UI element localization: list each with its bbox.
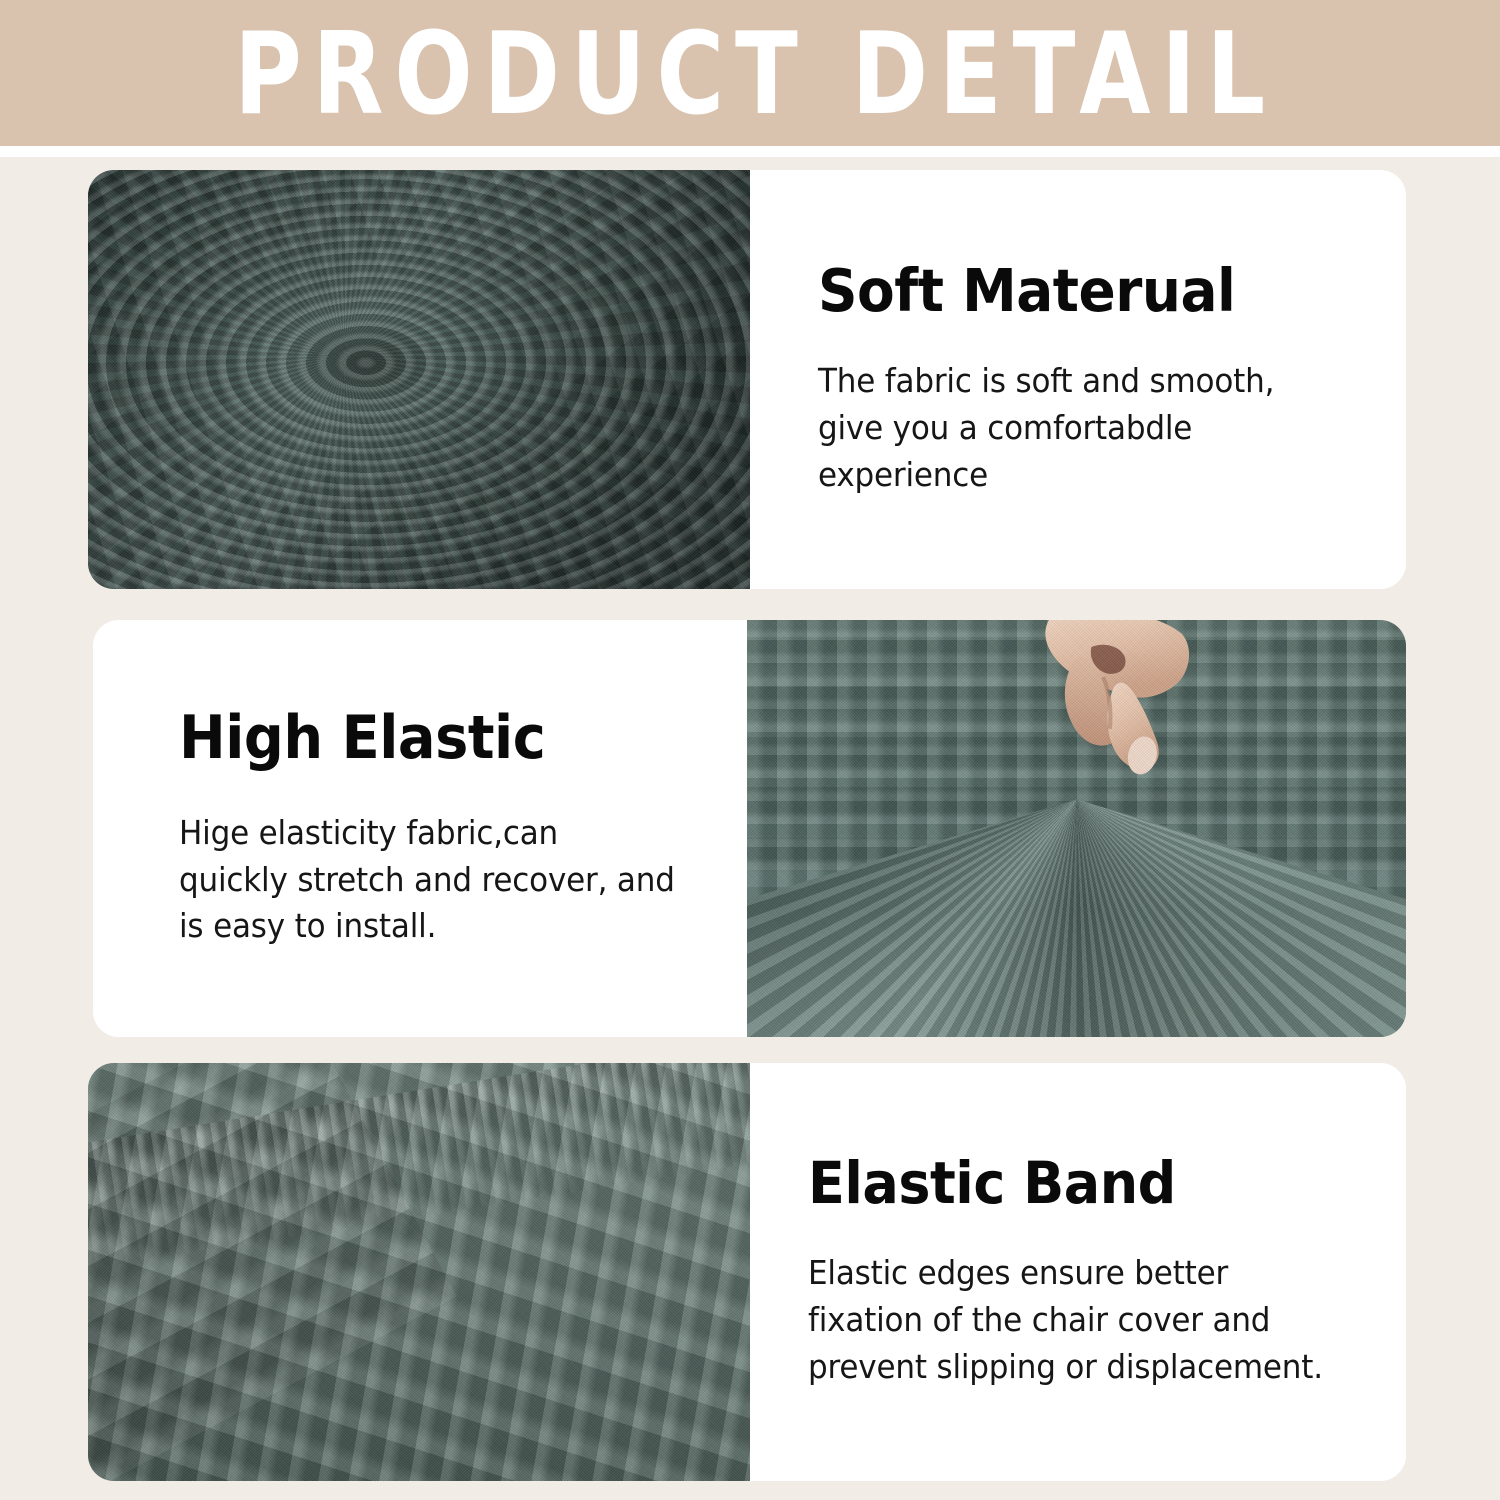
feature-description-high-elastic: Hige elasticity fabric,can quickly stret… bbox=[179, 810, 675, 951]
fabric-photo-swirl bbox=[88, 170, 750, 589]
feature-card-high-elastic: High Elastic Hige elasticity fabric,can … bbox=[93, 620, 1406, 1037]
header-divider bbox=[0, 146, 1500, 157]
hand-pinching-icon bbox=[978, 620, 1242, 803]
jacquard-fabric-texture bbox=[747, 620, 1406, 1037]
fabric-photo-pinch bbox=[747, 620, 1406, 1037]
feature-title-high-elastic: High Elastic bbox=[179, 707, 670, 770]
elastic-gather-band-overlay bbox=[88, 1063, 750, 1277]
feature-text-block-soft-material: Soft Materual The fabric is soft and smo… bbox=[750, 170, 1406, 589]
feature-title-soft-material: Soft Materual bbox=[818, 260, 1318, 322]
product-detail-infographic: PRODUCT DETAIL Soft Materual The fabric … bbox=[0, 0, 1500, 1500]
feature-description-soft-material: The fabric is soft and smooth, give you … bbox=[818, 358, 1324, 499]
page-title: PRODUCT DETAIL bbox=[224, 15, 1277, 131]
feature-card-soft-material: Soft Materual The fabric is soft and smo… bbox=[88, 170, 1406, 589]
header-banner: PRODUCT DETAIL bbox=[0, 0, 1500, 146]
feature-text-block-elastic-band: Elastic Band Elastic edges ensure better… bbox=[750, 1063, 1406, 1481]
feature-text-block-high-elastic: High Elastic Hige elasticity fabric,can … bbox=[93, 620, 747, 1037]
feature-title-elastic-band: Elastic Band bbox=[808, 1153, 1336, 1214]
fabric-folds-overlay bbox=[88, 170, 750, 589]
feature-description-elastic-band: Elastic edges ensure better fixation of … bbox=[808, 1250, 1342, 1391]
fabric-rib-diagonal-overlay bbox=[88, 1063, 457, 1481]
ruched-fabric-texture bbox=[88, 1063, 750, 1481]
fabric-photo-elastic-band bbox=[88, 1063, 750, 1481]
feature-card-elastic-band: Elastic Band Elastic edges ensure better… bbox=[88, 1063, 1406, 1481]
swirled-fabric-texture bbox=[88, 170, 750, 589]
